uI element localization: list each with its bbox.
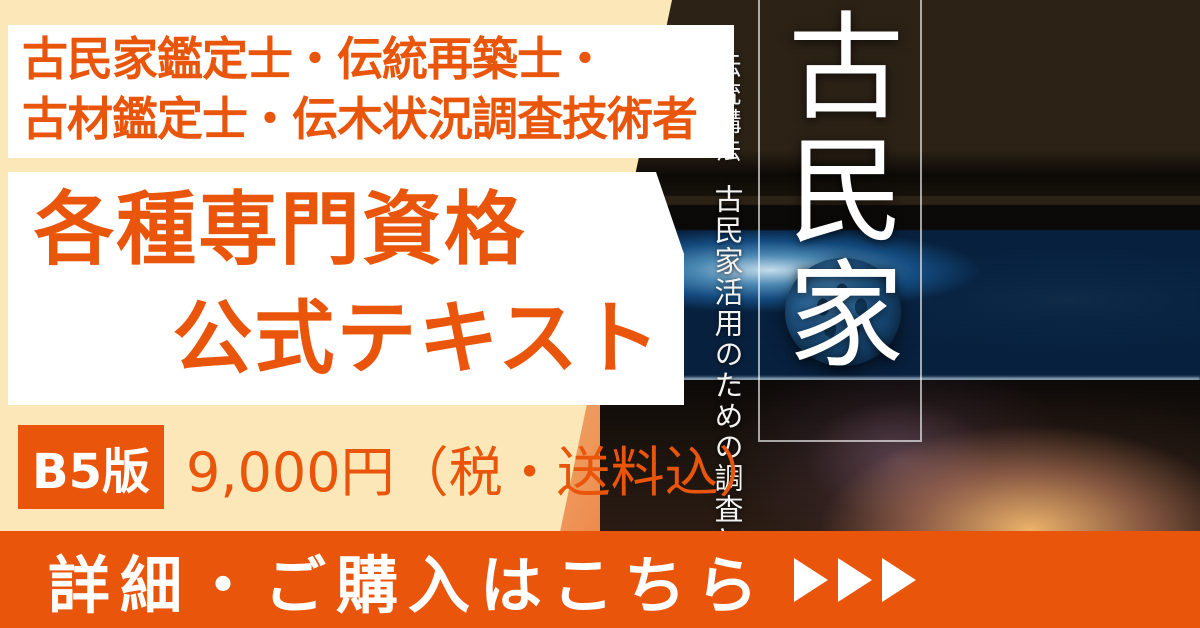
price-label: 9,000円（税・送料込） <box>186 428 773 507</box>
headline-line-2: 公式テキスト <box>24 285 674 394</box>
headline-panel: 各種専門資格 公式テキスト <box>8 172 684 405</box>
headline-text: 各種専門資格 公式テキスト <box>24 176 674 394</box>
promo-banner: 古民家 伝統構法 古民家活用のための調査と再生の 古民家鑑定士・伝統再築士・ 古… <box>0 0 1200 628</box>
price-row: B5版 9,000円（税・送料込） <box>18 425 773 509</box>
cta-label: 詳細・ご購入はこちら <box>48 535 768 625</box>
headline-line-1: 各種専門資格 <box>24 176 674 285</box>
play-arrow-icon-2 <box>838 558 872 602</box>
certifications-panel: 古民家鑑定士・伝統再築士・ 古材鑑定士・伝木状況調査技術者 <box>8 25 734 158</box>
certifications-line-2: 古材鑑定士・伝木状況調査技術者 <box>22 90 697 150</box>
certifications-line-1: 古民家鑑定士・伝統再築士・ <box>22 30 697 90</box>
book-cover-title: 古民家 <box>771 6 903 426</box>
cta-arrow-group <box>794 558 916 602</box>
certifications-text: 古民家鑑定士・伝統再築士・ 古材鑑定士・伝木状況調査技術者 <box>22 30 697 150</box>
format-badge: B5版 <box>18 425 164 509</box>
play-arrow-icon-3 <box>882 558 916 602</box>
play-arrow-icon-1 <box>794 558 828 602</box>
cta-bar[interactable]: 詳細・ご購入はこちら <box>0 531 1200 628</box>
